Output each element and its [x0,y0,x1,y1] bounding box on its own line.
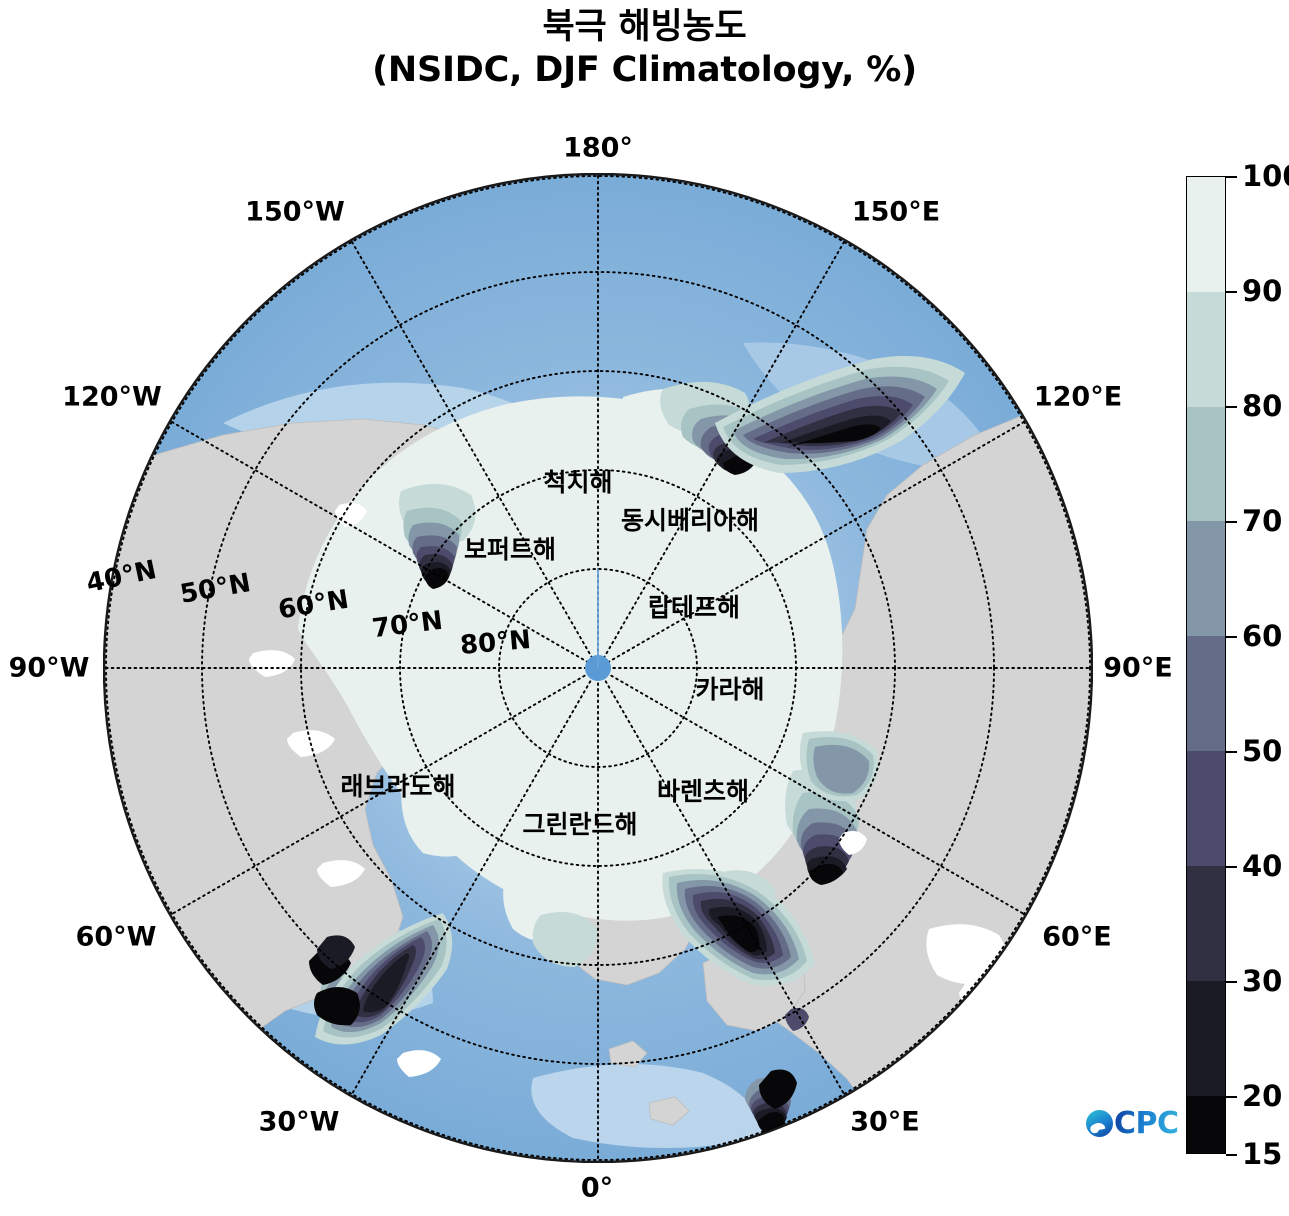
colorbar-tick-50 [1226,751,1237,753]
cpc-logo: CPC [1086,1103,1178,1143]
sea-label-beaufort: 보퍼트해 [464,530,556,566]
colorbar-tick-70 [1226,521,1237,523]
colorbar-label-60: 60 [1242,619,1282,653]
colorbar-gradient [1186,176,1226,1154]
title-line-2: (NSIDC, DJF Climatology, %) [0,49,1289,92]
sea-label-barents: 바렌츠해 [657,772,749,808]
colorbar-label-15: 15 [1242,1137,1282,1171]
colorbar-band-30-40 [1187,866,1225,981]
figure-root: 북극 해빙농도 (NSIDC, DJF Climatology, %) [0,0,1289,1216]
colorbar-tick-15 [1226,1154,1237,1156]
colorbar-band-20-30 [1187,981,1225,1096]
colorbar-band-40-50 [1187,751,1225,866]
lon-label-0: 0° [581,1173,613,1204]
colorbar-band-60-70 [1187,521,1225,636]
sea-label-laptev: 랍테프해 [648,588,740,624]
sea-label-chukchi: 척치해 [543,463,612,499]
lon-label-30w: 30°W [259,1107,340,1138]
lon-label-90w: 90°W [9,653,90,684]
colorbar-tick-90 [1226,291,1237,293]
sea-label-labrador: 래브라도해 [340,767,455,803]
colorbar-label-100: 100 [1242,159,1289,193]
sea-label-east-siberian: 동시베리아해 [621,501,759,537]
colorbar-band-70-80 [1187,407,1225,522]
map-canvas [103,173,1093,1163]
colorbar-band-50-60 [1187,636,1225,751]
lon-label-180: 180° [563,133,633,164]
sea-label-greenland: 그린란드해 [522,805,637,841]
colorbar-label-50: 50 [1242,734,1282,768]
title-line-1: 북극 해빙농도 [0,6,1289,49]
colorbar-tick-100 [1226,176,1237,178]
lon-label-60e: 60°E [1042,922,1112,953]
lon-label-150e: 150°E [852,197,940,228]
polar-map [103,173,1093,1163]
lon-label-120w: 120°W [62,382,162,413]
sea-label-kara: 카라해 [695,670,764,706]
colorbar-label-30: 30 [1242,964,1282,998]
lon-label-150w: 150°W [245,197,345,228]
colorbar-tick-20 [1226,1096,1237,1098]
colorbar-band-80-90 [1187,292,1225,407]
colorbar-tick-40 [1226,866,1237,868]
colorbar-label-80: 80 [1242,389,1282,423]
colorbar-label-90: 90 [1242,274,1282,308]
colorbar-tick-80 [1226,406,1237,408]
colorbar-band-15-20 [1187,1096,1225,1153]
colorbar-band-90-100 [1187,177,1225,292]
colorbar-label-70: 70 [1242,504,1282,538]
colorbar-tick-60 [1226,636,1237,638]
lon-label-120e: 120°E [1034,382,1122,413]
lon-label-90e: 90°E [1103,653,1173,684]
lat-label-80n: 80°N [459,625,532,661]
colorbar-label-40: 40 [1242,849,1282,883]
lon-label-60w: 60°W [76,922,157,953]
cpc-globe-icon [1086,1110,1113,1137]
figure-title: 북극 해빙농도 (NSIDC, DJF Climatology, %) [0,6,1289,91]
colorbar-label-20: 20 [1242,1079,1282,1113]
lon-label-30e: 30°E [850,1107,920,1138]
colorbar-tick-30 [1226,981,1237,983]
colorbar: 100 90 80 70 60 50 40 30 20 15 [1186,176,1226,1154]
cpc-logo-text: CPC [1114,1106,1179,1141]
